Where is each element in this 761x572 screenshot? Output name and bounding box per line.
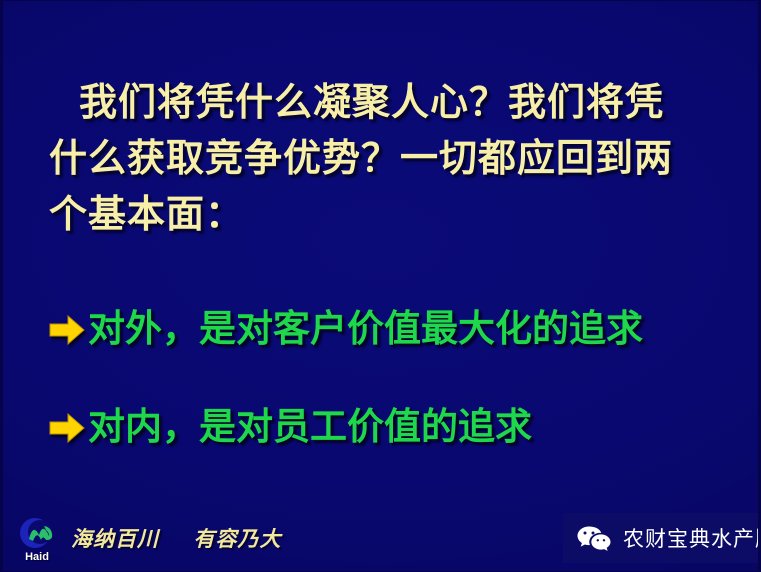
- title-line-2: 什么获取竞争优势？一切都应回到两: [49, 131, 725, 187]
- wechat-watermark: 农财宝典水产版: [563, 513, 758, 563]
- arrow-right-icon: [49, 315, 85, 345]
- title-line-3: 个基本面：: [49, 187, 725, 243]
- watermark-label: 农财宝典水产版: [623, 523, 761, 553]
- presentation-slide: 我们将凭什么凝聚人心？我们将凭 什么获取竞争优势？一切都应回到两 个基本面： 对…: [0, 0, 761, 572]
- logo-wordmark: Haid: [13, 551, 61, 563]
- footer-slogan: 海纳百川 有容乃大: [71, 523, 282, 553]
- slogan-part-2: 有容乃大: [194, 527, 282, 551]
- footer-branding: Haid 海纳百川 有容乃大: [13, 513, 282, 563]
- bullet-text-2: 对内，是对员工价值的追求: [88, 405, 532, 451]
- arrow-right-icon: [49, 413, 85, 443]
- slide-title: 我们将凭什么凝聚人心？我们将凭 什么获取竞争优势？一切都应回到两 个基本面：: [49, 75, 725, 243]
- bullet-item-1: 对外，是对客户价值最大化的追求: [49, 307, 643, 353]
- bullet-text-1: 对外，是对客户价值最大化的追求: [88, 307, 643, 353]
- slogan-part-1: 海纳百川: [71, 527, 159, 551]
- haid-wave-logo-icon: Haid: [13, 513, 61, 563]
- title-line-1: 我们将凭什么凝聚人心？我们将凭: [49, 75, 725, 131]
- wechat-icon: [577, 525, 611, 552]
- bullet-item-2: 对内，是对员工价值的追求: [49, 405, 532, 451]
